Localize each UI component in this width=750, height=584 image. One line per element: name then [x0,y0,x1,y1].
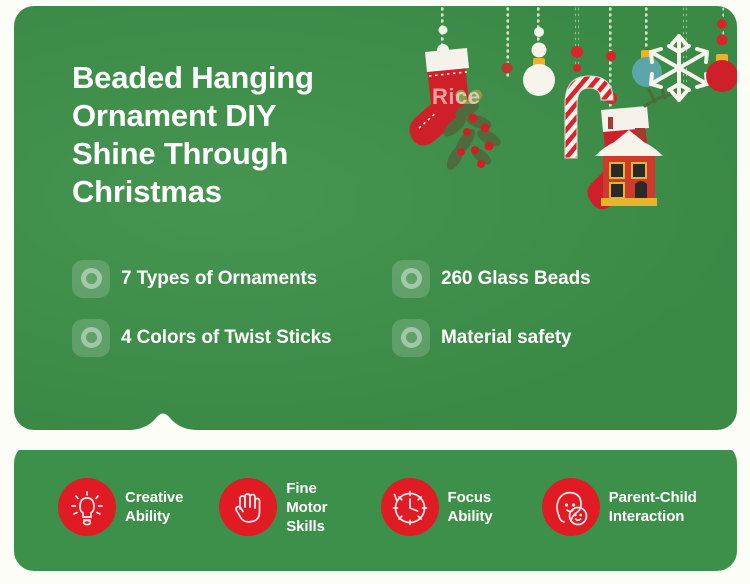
feature-item: 7 Types of Ornaments [72,249,392,308]
bauble-red-icon [706,54,737,92]
parent-child-icon [542,478,600,536]
feature-label: 260 Glass Beads [441,268,591,290]
lightbulb-icon [58,478,116,536]
feature-item: 4 Colors of Twist Sticks [72,308,392,367]
benefit-item-fine-motor-skills: Fine Motor Skills [219,478,380,536]
page-title: Beaded Hanging Ornament DIY Shine Throug… [72,59,432,211]
benefit-label: Focus Ability [448,488,493,526]
hero-panel: Rice Beaded Hanging Ornament DIY Shine T… [14,6,737,430]
feature-item: Material safety [392,308,712,367]
benefit-label: Parent-Child Interaction [609,488,697,526]
ring-icon [392,319,430,357]
poster-canvas: Rice Beaded Hanging Ornament DIY Shine T… [0,0,750,584]
feature-label: 4 Colors of Twist Sticks [121,327,332,349]
ring-icon [72,260,110,298]
benefit-label: Fine Motor Skills [286,479,327,536]
benefit-item-creative-ability: Creative Ability [58,478,219,536]
feature-label: 7 Types of Ornaments [121,268,317,290]
benefit-item-parent-child-interaction: Parent-Child Interaction [542,478,703,536]
benefit-label: Creative Ability [125,488,183,526]
feature-item: 260 Glass Beads [392,249,712,308]
watermark-text: Rice [432,84,480,110]
benefit-item-focus-ability: Focus Ability [381,478,542,536]
ring-icon [72,319,110,357]
benefits-row: Creative Ability Fine Motor Skills [14,443,737,571]
panel-divider-notch [0,396,750,450]
feature-label: Material safety [441,327,572,349]
ring-icon [392,260,430,298]
benefits-panel: Creative Ability Fine Motor Skills [14,443,737,571]
feature-list: 7 Types of Ornaments 260 Glass Beads 4 C… [72,249,712,367]
hand-icon [219,478,277,536]
bauble-white-icon [523,58,555,96]
clock-icon [381,478,439,536]
